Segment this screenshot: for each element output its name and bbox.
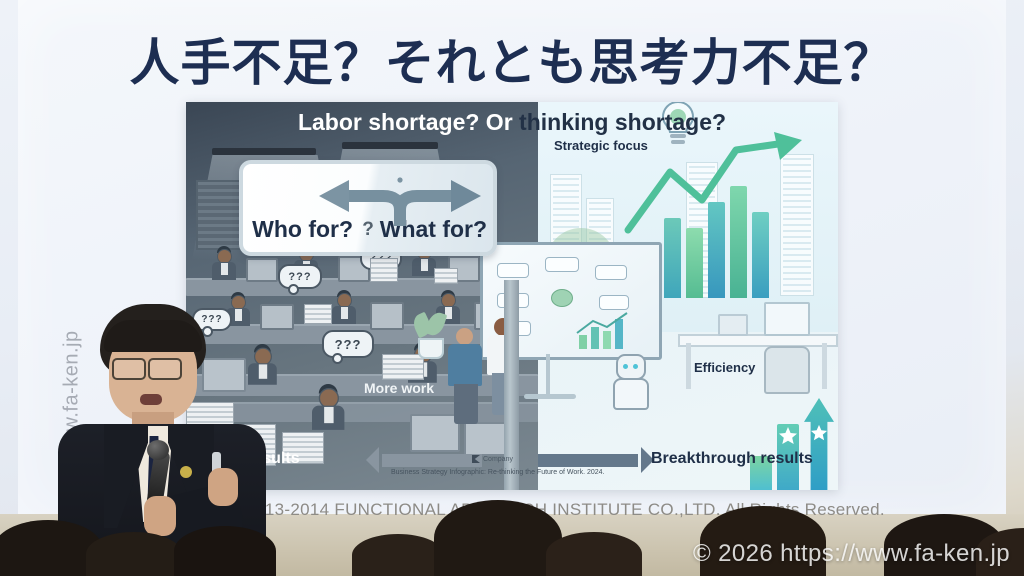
label-breakthrough-results: Breakthrough results xyxy=(651,450,813,468)
presenter-hair-front xyxy=(104,320,202,352)
desk-surface xyxy=(678,334,838,347)
desk-leg xyxy=(686,343,691,389)
audience-head xyxy=(434,500,562,576)
arrow-right xyxy=(538,454,638,467)
slide-title: 人手不足？それとも思考力不足？ xyxy=(0,23,1024,95)
robot-body xyxy=(613,378,649,410)
credit-logo-group: Company xyxy=(472,455,513,463)
monitor-icon xyxy=(246,258,278,282)
brain-icon xyxy=(551,289,573,307)
printer-icon xyxy=(718,314,748,336)
mindmap-node xyxy=(497,263,529,278)
audience-head xyxy=(352,534,444,576)
eyeglasses-icon xyxy=(148,358,182,380)
label-more-work: More work xyxy=(364,380,434,396)
thought-bubble: ??? xyxy=(322,330,374,358)
board-stand xyxy=(546,354,550,398)
monitor-icon xyxy=(370,302,404,330)
mindmap-node xyxy=(595,265,627,280)
office-chair-icon xyxy=(764,346,810,394)
mindmap-node xyxy=(599,295,629,310)
panel-thinking-focus: Strategic focus xyxy=(538,102,838,490)
fork-arrows-icon xyxy=(305,176,495,230)
audience-head xyxy=(546,532,642,576)
potted-plant-icon xyxy=(418,338,444,359)
bar-chart-bar xyxy=(686,228,703,298)
arrow-left xyxy=(382,454,482,467)
presenter-badge xyxy=(180,466,192,478)
ceiling-lamp-icon xyxy=(212,148,316,155)
star-icon xyxy=(810,424,828,442)
presenter-hand-right xyxy=(144,496,176,536)
desk-leg xyxy=(822,343,827,389)
screenshot-root: w.fa-ken.jp 人手不足？それとも思考力不足？ More people xyxy=(0,0,1024,576)
thought-bubble: ??? xyxy=(278,264,322,289)
microphone-head-icon xyxy=(147,440,169,460)
label-efficiency: Efficiency xyxy=(694,360,755,375)
paper-stack-icon xyxy=(304,304,332,324)
audience-head xyxy=(174,526,276,576)
paper-stack-icon xyxy=(434,268,458,284)
infographic-headline: Labor shortage? Or thinking shortage? xyxy=(186,109,838,136)
paper-stack-icon xyxy=(370,258,398,282)
label-strategic-focus: Strategic focus xyxy=(554,138,648,153)
growth-bars-group xyxy=(750,398,834,490)
growth-trend-arrow-icon xyxy=(624,126,824,236)
presenter-mouth xyxy=(140,394,162,405)
mini-bar-chart-icon xyxy=(575,311,637,351)
eyeglasses-icon xyxy=(112,358,146,380)
ceiling-lamp-icon xyxy=(342,142,438,149)
laptop-icon xyxy=(764,302,810,336)
mindmap-node xyxy=(545,257,579,272)
robot-figure xyxy=(616,354,646,380)
star-icon xyxy=(778,426,798,446)
watermark: © 2026 https://www.fa-ken.jp xyxy=(693,540,1010,568)
paper-stack-icon xyxy=(382,354,424,380)
headline-segment-right: thinking shortage? xyxy=(513,109,726,135)
headline-segment-left: Labor shortage? Or xyxy=(298,109,513,135)
credit-logo-label: Company xyxy=(483,456,513,463)
company-logo-icon xyxy=(472,455,480,463)
growth-arrow-bar xyxy=(804,398,834,490)
infographic-card: More people xyxy=(186,102,838,490)
board-base xyxy=(524,394,576,399)
presenter-hand-left xyxy=(208,468,238,506)
fork-sign: Who for? ? What for? xyxy=(239,160,497,256)
audience-head xyxy=(86,532,182,576)
storage-box-icon xyxy=(410,414,460,452)
infographic-credit-text: Business Strategy Infographic: Re-thinki… xyxy=(391,469,604,476)
